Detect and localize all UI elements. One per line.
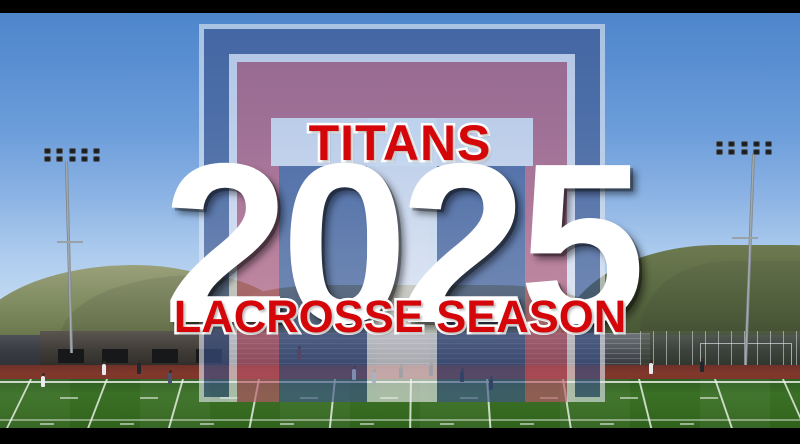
- hash-mark: [360, 423, 374, 425]
- hash-mark: [280, 423, 294, 425]
- poster-canvas: 2025 TITANS LACROSSE SEASON: [0, 0, 800, 444]
- hash-mark: [60, 397, 78, 399]
- hash-mark: [620, 397, 638, 399]
- hash-mark: [700, 397, 718, 399]
- hash-mark: [120, 423, 134, 425]
- top-letterbox-bar: [0, 0, 800, 13]
- player: [700, 361, 704, 372]
- player: [41, 376, 45, 387]
- hash-mark: [40, 423, 54, 425]
- hash-mark: [520, 423, 534, 425]
- player: [168, 373, 172, 384]
- player: [649, 363, 653, 374]
- hash-mark: [680, 423, 694, 425]
- headline-titans: TITANS: [0, 118, 800, 168]
- field-sideline: [0, 419, 800, 421]
- headline-lacrosse-season: LACROSSE SEASON: [0, 294, 800, 339]
- hash-mark: [200, 423, 214, 425]
- bottom-letterbox-bar: [0, 428, 800, 444]
- player: [137, 363, 141, 374]
- hash-mark: [600, 423, 614, 425]
- hash-mark: [440, 423, 454, 425]
- hash-mark: [140, 397, 158, 399]
- player: [102, 364, 106, 375]
